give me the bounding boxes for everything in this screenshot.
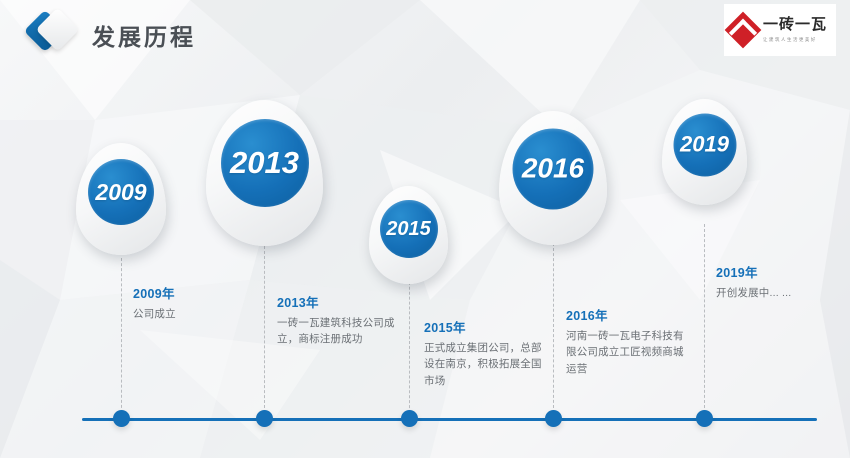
milestone-pin-2019[interactable]: 2019: [662, 99, 747, 205]
milestone-detail: 正式成立集团公司，总部设在南京，积极拓展全国市场: [424, 340, 542, 389]
milestone-heading: 2013年: [277, 292, 401, 311]
milestone-text-2019: 2019年 开创发展中... ...: [716, 262, 836, 301]
connector-line-2016: [553, 243, 554, 413]
pin-body: 2016: [499, 111, 607, 245]
connector-line-2015: [409, 272, 410, 413]
milestone-text-2009: 2009年 公司成立: [133, 283, 243, 322]
milestone-heading: 2015年: [424, 317, 542, 336]
timeline-dot-2019[interactable]: [696, 410, 713, 427]
pin-circle: 2009: [88, 159, 154, 225]
pin-year-label: 2015: [386, 219, 431, 239]
milestone-pin-2013[interactable]: 2013: [206, 100, 323, 246]
milestone-heading: 2019年: [716, 262, 836, 281]
pin-circle: 2016: [513, 128, 594, 209]
pin-circle: 2015: [380, 200, 438, 258]
milestone-heading: 2009年: [133, 283, 243, 302]
pin-year-label: 2009: [95, 181, 146, 204]
milestone-detail: 一砖一瓦建筑科技公司成立，商标注册成功: [277, 315, 401, 348]
milestone-pin-2015[interactable]: 2015: [369, 186, 448, 284]
connector-line-2019: [704, 224, 705, 413]
pin-body: 2009: [76, 143, 166, 255]
milestone-text-2015: 2015年 正式成立集团公司，总部设在南京，积极拓展全国市场: [424, 317, 542, 389]
pin-body: 2019: [662, 99, 747, 205]
connector-line-2013: [264, 246, 265, 413]
timeline-dot-2015[interactable]: [401, 410, 418, 427]
connector-line-2009: [121, 258, 122, 413]
timeline-dot-2016[interactable]: [545, 410, 562, 427]
milestone-heading: 2016年: [566, 305, 688, 324]
pin-body: 2015: [369, 186, 448, 284]
slide-canvas: 发展历程 一砖一瓦 让建筑人生活更美好 2009 2013: [0, 0, 850, 458]
pin-body: 2013: [206, 100, 323, 246]
pin-year-label: 2019: [680, 134, 729, 156]
brand-logo: 一砖一瓦 让建筑人生活更美好: [724, 4, 836, 56]
brand-diamond-icon: [725, 12, 762, 49]
pin-circle: 2013: [221, 119, 309, 207]
pin-circle: 2019: [673, 113, 736, 176]
milestone-detail: 公司成立: [133, 306, 243, 322]
pin-year-label: 2013: [230, 147, 299, 178]
brand-name: 一砖一瓦: [763, 17, 827, 34]
milestone-text-2013: 2013年 一砖一瓦建筑科技公司成立，商标注册成功: [277, 292, 401, 348]
slide-header: 发展历程 一砖一瓦 让建筑人生活更美好: [0, 0, 850, 62]
milestone-pin-2016[interactable]: 2016: [499, 111, 607, 245]
milestone-detail: 河南一砖一瓦电子科技有限公司成立工匠视频商城运营: [566, 328, 688, 377]
brand-slogan: 让建筑人生活更美好: [763, 37, 827, 43]
page-title: 发展历程: [92, 18, 196, 52]
pin-year-label: 2016: [522, 155, 584, 183]
timeline-dot-2009[interactable]: [113, 410, 130, 427]
timeline-dot-2013[interactable]: [256, 410, 273, 427]
diamond-logo-icon: [30, 12, 74, 52]
milestone-text-2016: 2016年 河南一砖一瓦电子科技有限公司成立工匠视频商城运营: [566, 305, 688, 377]
milestone-detail: 开创发展中... ...: [716, 285, 836, 301]
milestone-pin-2009[interactable]: 2009: [76, 143, 166, 255]
